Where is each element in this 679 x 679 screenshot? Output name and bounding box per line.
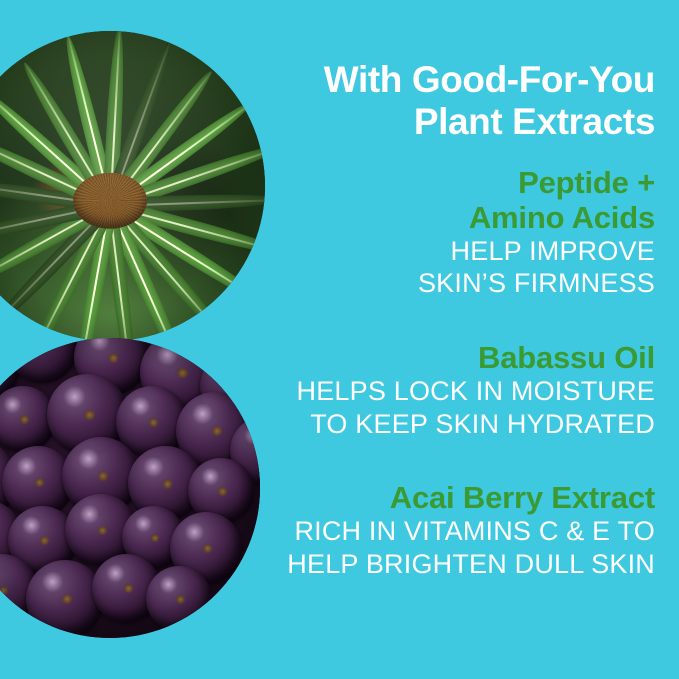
berry-photo-circle [0, 338, 260, 638]
ingredient-block-babassu: Babassu Oil HELPS LOCK IN MOISTURE TO KE… [225, 340, 655, 440]
ingredient-block-acai: Acai Berry Extract RICH IN VITAMINS C & … [225, 480, 655, 580]
ingredient-name: Peptide + Amino Acids [225, 165, 655, 235]
page-title: With Good-For-You Plant Extracts [225, 0, 655, 143]
text-column: With Good-For-You Plant Extracts Peptide… [225, 0, 655, 679]
ingredient-name: Acai Berry Extract [225, 480, 655, 515]
ingredient-benefit: HELP IMPROVE SKIN’S FIRMNESS [225, 235, 655, 300]
ingredient-benefit: HELPS LOCK IN MOISTURE TO KEEP SKIN HYDR… [225, 375, 655, 440]
berry-photo [0, 338, 260, 638]
ingredient-benefit: RICH IN VITAMINS C & E TO HELP BRIGHTEN … [225, 515, 655, 580]
ingredient-block-peptide: Peptide + Amino Acids HELP IMPROVE SKIN’… [225, 165, 655, 300]
promo-poster: With Good-For-You Plant Extracts Peptide… [0, 0, 679, 679]
ingredient-name: Babassu Oil [225, 340, 655, 375]
